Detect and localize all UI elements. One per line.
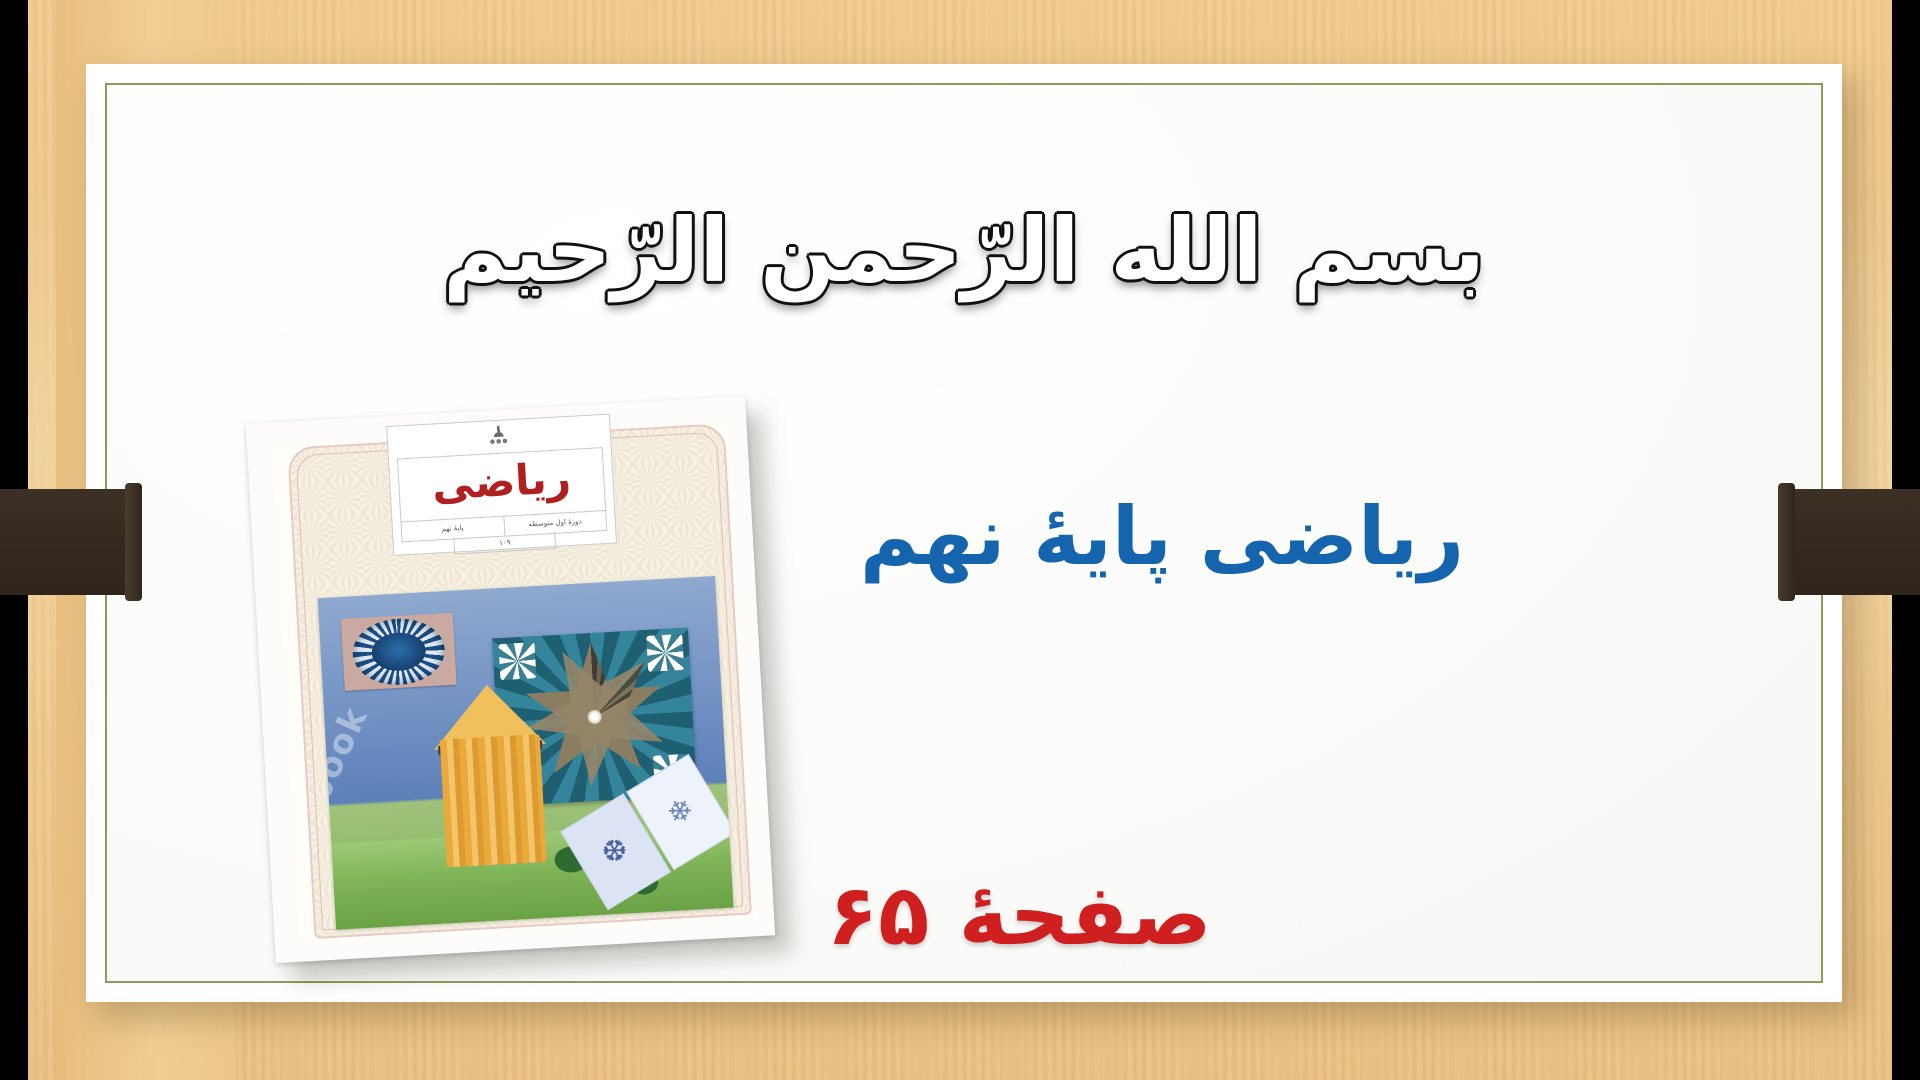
tile-corner-2 [646,634,684,672]
chapter-label: فصل ۴ [873,1067,1166,1080]
textbook-cover-image: ●●● ریاضی دورهٔ اول متوسطه پایهٔ نهم ۱۰۹… [246,395,796,983]
gonbad-e-qabus-tower [431,682,553,868]
book-artwork: mahbook [318,576,734,930]
emblem-mark-icon [490,425,507,437]
bismillah-heading: بسم الله الرّحمن الرّحیم [86,196,1842,306]
slide-stage: بسم الله الرّحمن الرّحیم ریاضی پایهٔ نهم… [0,0,1920,1080]
plate-center [371,631,427,672]
left-clamp-bracket [0,489,140,595]
ceramic-plate-photo [341,613,457,691]
book-cover: ●●● ریاضی دورهٔ اول متوسطه پایهٔ نهم ۱۰۹… [246,396,775,963]
left-clamp-cap [125,483,142,601]
book-title-text: ریاضی [431,457,572,507]
right-clamp-cap [1778,483,1795,601]
subject-title: ریاضی پایهٔ نهم [662,489,1662,585]
tile-corner-1 [498,642,536,680]
plate-rim [351,616,447,687]
tower-body [440,734,547,867]
page-label: صفحهٔ ۶۵ [827,866,1212,964]
book-title-panel: ●●● ریاضی دورهٔ اول متوسطه پایهٔ نهم ۱۰۹ [386,414,617,556]
right-clamp-bracket [1780,489,1920,595]
presentation-slide: بسم الله الرّحمن الرّحیم ریاضی پایهٔ نهم… [86,64,1842,1002]
